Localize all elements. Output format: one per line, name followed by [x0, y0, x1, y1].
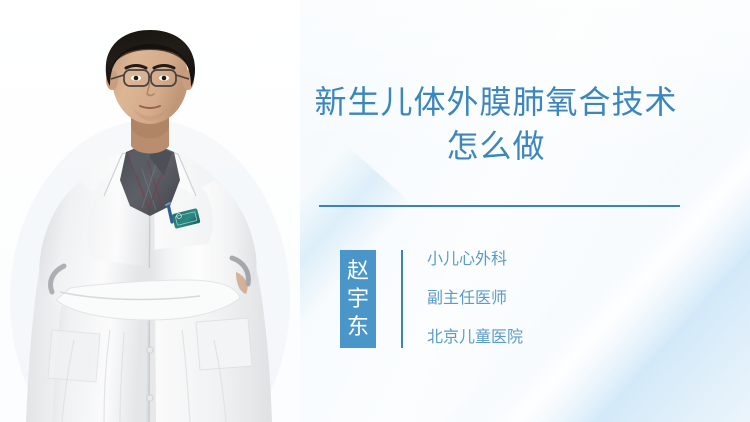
- doctor-info: 赵 宇 东 小儿心外科 副主任医师 北京儿童医院: [340, 250, 523, 348]
- doctor-name-char-1: 赵: [340, 257, 376, 285]
- page-title: 新生儿体外膜肺氧合技术 怎么做: [300, 80, 692, 168]
- doctor-info-separator: [401, 250, 403, 348]
- doctor-department: 小儿心外科: [427, 252, 523, 268]
- doctor-rank: 副主任医师: [427, 291, 523, 307]
- doctor-name-char-2: 宇: [340, 285, 376, 313]
- doctor-name-char-3: 东: [340, 313, 376, 341]
- doctor-video-cover-card: 新生儿体外膜肺氧合技术 怎么做 赵 宇 东 小儿心外科 副主任医师 北京儿童医院: [0, 0, 750, 422]
- doctor-hospital: 北京儿童医院: [427, 330, 523, 346]
- title-divider: [319, 205, 680, 207]
- text-content-area: 新生儿体外膜肺氧合技术 怎么做 赵 宇 东 小儿心外科 副主任医师 北京儿童医院: [300, 0, 750, 422]
- doctor-credentials: 小儿心外科 副主任医师 北京儿童医院: [427, 252, 523, 346]
- doctor-photo: [0, 0, 300, 422]
- doctor-name-badge: 赵 宇 东: [340, 250, 376, 348]
